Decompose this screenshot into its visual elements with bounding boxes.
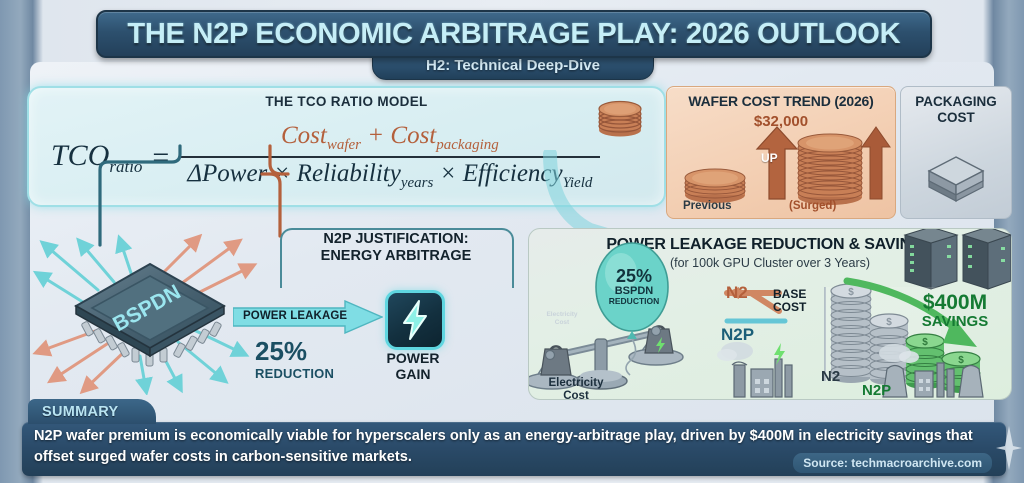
formula-numerator: Costwafer + Costpackaging	[273, 122, 507, 156]
savings-value: $400M	[905, 292, 1005, 314]
power-leakage-label: POWER LEAKAGE	[243, 310, 347, 322]
infographic-root: H2: Technical Deep-Dive THE N2P ECONOMIC…	[0, 0, 1024, 483]
packaging-title-line1: PACKAGING	[901, 94, 1011, 110]
cooling-tower-icon-2	[959, 366, 983, 398]
package-box-icon	[923, 149, 989, 205]
balloon-text: 25% BSPDN REDUCTION	[603, 267, 665, 306]
svg-text:$: $	[848, 287, 854, 298]
weight-label-line2: Cost	[535, 319, 589, 327]
bspdn-chip-diagram: BSPDN	[28, 230, 268, 395]
den-term-1: ΔPower	[187, 160, 267, 187]
lightning-bolt-icon	[388, 293, 442, 347]
electricity-cost-label: Electricity Cost	[536, 377, 616, 403]
coinstack-n2-label: N2	[821, 368, 840, 385]
power-gain-line2: GAIN	[367, 366, 459, 382]
electricity-cost-line1: Electricity	[536, 377, 616, 390]
den-sub-2: years	[401, 175, 434, 191]
num-sub-2: packaging	[436, 137, 498, 153]
num-term-2: Cost	[390, 122, 436, 149]
wafer-trend-graphic	[667, 87, 895, 218]
secondary-up-arrow-icon	[862, 127, 890, 199]
surged-wafer-stack-icon	[798, 134, 862, 205]
n2p-compare-label: N2P	[721, 325, 754, 345]
den-term-2: Reliability	[297, 160, 401, 187]
previous-label: Previous	[683, 200, 732, 212]
formula-lhs-base: TCO	[51, 139, 109, 172]
summary-tab: SUMMARY	[28, 399, 156, 424]
power-gain-line1: POWER	[367, 350, 459, 366]
power-gain-label: POWER GAIN	[367, 350, 459, 382]
source-text: Source: techmacroarchive.com	[803, 456, 982, 470]
sparkle-icon	[996, 426, 1022, 470]
weight-label: Electricity Cost	[535, 311, 589, 327]
formula-lhs-sub: ratio	[109, 157, 142, 176]
source-pill: Source: techmacroarchive.com	[793, 453, 992, 473]
power-plant-icon	[717, 342, 792, 397]
justification-line2: ENERGY ARBITRAGE	[286, 248, 506, 265]
power-gain-icon-box	[385, 290, 445, 350]
formula-fraction: Costwafer + Costpackaging ΔPower × Relia…	[179, 122, 600, 192]
surged-label: (Surged)	[789, 200, 836, 212]
n2-compare-label: N2	[726, 283, 748, 303]
base-cost-line1: BASE	[773, 288, 819, 301]
wafer-stack-icon	[592, 96, 648, 140]
previous-wafer-stack-icon	[685, 169, 745, 203]
svg-text:$: $	[958, 355, 964, 366]
packaging-cost-panel: PACKAGING COST	[900, 86, 1012, 219]
den-sub-3: Yield	[563, 175, 593, 191]
chip-reduction-label: REDUCTION	[255, 366, 334, 381]
formula-left-side: TCOratio	[43, 139, 142, 177]
electricity-cost-line2: Cost	[536, 390, 616, 403]
summary-bar: N2P wafer premium is economically viable…	[22, 422, 1006, 476]
svg-text:$: $	[922, 337, 928, 348]
title-banner: THE N2P ECONOMIC ARBITRAGE PLAY: 2026 OU…	[96, 10, 932, 58]
chip-reduction-value: 25%	[255, 336, 307, 367]
balloon-line3: REDUCTION	[603, 297, 665, 306]
balloon-value: 25%	[603, 267, 665, 285]
formula-title: THE TCO RATIO MODEL	[29, 94, 664, 109]
svg-text:$: $	[886, 317, 892, 328]
num-op: +	[367, 122, 384, 149]
packaging-title-line2: COST	[901, 110, 1011, 126]
num-term-1: Cost	[281, 122, 327, 149]
den-op-1: ×	[274, 160, 291, 187]
page-title: THE N2P ECONOMIC ARBITRAGE PLAY: 2026 OU…	[128, 18, 901, 51]
justification-line1: N2P JUSTIFICATION:	[286, 231, 506, 248]
formula-equals: =	[152, 141, 169, 175]
coinstack-n2p-label: N2P	[862, 382, 891, 399]
base-cost-line2: COST	[773, 301, 819, 314]
server-rack-icon	[905, 229, 1011, 289]
savings-word: SAVINGS	[905, 314, 1005, 330]
wafer-cost-trend-panel: WAFER COST TREND (2026) $32,000	[666, 86, 896, 219]
formula-denominator: ΔPower × Reliabilityyears × EfficiencyYi…	[179, 158, 600, 192]
weight-label-line1: Electricity	[535, 311, 589, 319]
base-cost-label: BASE COST	[773, 288, 819, 315]
subtitle-text: H2: Technical Deep-Dive	[426, 57, 600, 74]
savings-amount: $400M SAVINGS	[905, 292, 1005, 330]
tco-formula-panel: THE TCO RATIO MODEL TCOratio = Costwafer…	[27, 86, 666, 207]
num-sub-1: wafer	[327, 137, 361, 153]
formula-expression: TCOratio = Costwafer + Costpackaging ΔPo…	[43, 118, 654, 198]
justification-text: N2P JUSTIFICATION: ENERGY ARBITRAGE	[286, 231, 506, 266]
packaging-panel-title: PACKAGING COST	[901, 94, 1011, 125]
up-arrow-label: UP	[761, 151, 778, 165]
summary-tab-label: SUMMARY	[28, 404, 118, 420]
den-op-2: ×	[440, 160, 457, 187]
den-term-3: Efficiency	[463, 160, 563, 187]
